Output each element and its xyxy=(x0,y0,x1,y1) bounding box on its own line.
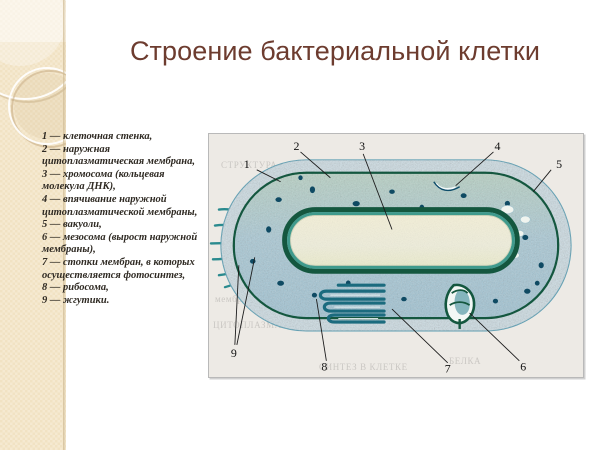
figure-label-3: 3 xyxy=(359,139,365,153)
list-item: 2 — наружная цитоплазматическая мембрана… xyxy=(42,144,207,169)
list-item: 6 — мезосома (вырост наружной мембраны), xyxy=(42,232,207,257)
figure-label-7: 7 xyxy=(445,362,451,376)
list-item: 5 — вакуоли, xyxy=(42,219,207,232)
figure-label-8: 8 xyxy=(321,360,327,374)
page-title: Строение бактериальной клетки xyxy=(80,34,590,68)
photosynthetic-membrane-stacks xyxy=(320,285,384,322)
list-item: 1 — клеточная стенка, xyxy=(42,131,207,144)
figure-label-2: 2 xyxy=(294,139,300,153)
list-item: 4 — впячивание наружной цитоплазматическ… xyxy=(42,194,207,219)
figure-label-5: 5 xyxy=(556,157,562,171)
list-item: 7 — стопки мембран, в которых осуществля… xyxy=(42,257,207,282)
figure-label-1: 1 xyxy=(244,157,250,171)
bacterial-cell-figure: СТРУКТУРА клетки мембрана ЦИТОПЛАЗМА СИН… xyxy=(208,133,584,378)
list-item: 9 — жгутики. xyxy=(42,295,207,308)
legend-list: 1 — клеточная стенка, 2 — наружная цитоп… xyxy=(42,131,207,307)
bacterial-cell-illustration: 1 2 3 4 5 6 7 8 9 xyxy=(209,134,583,378)
figure-label-4: 4 xyxy=(494,139,500,153)
figure-label-6: 6 xyxy=(520,360,526,374)
chromosome-nucleoid xyxy=(285,210,518,272)
figure-label-9: 9 xyxy=(231,346,237,360)
list-item: 8 — рибосома, xyxy=(42,282,207,295)
list-item: 3 — хромосома (кольцевая молекула ДНК), xyxy=(42,169,207,194)
